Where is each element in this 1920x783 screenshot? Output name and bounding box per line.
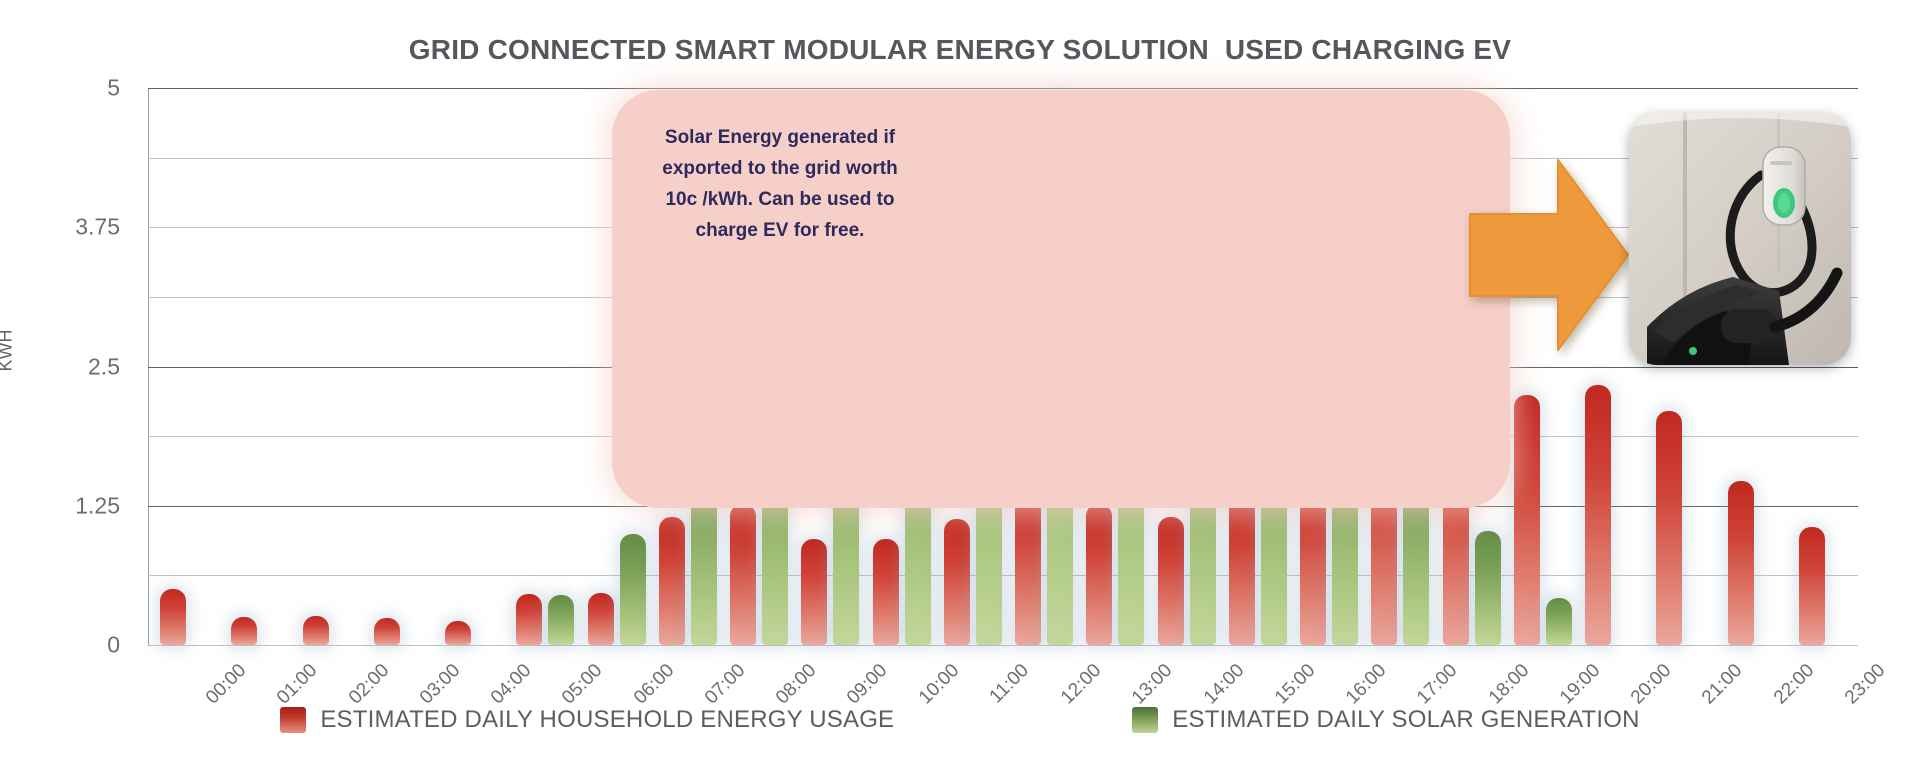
bar-usage[interactable] [445, 621, 471, 646]
y-axis-tick-label: 0 [0, 632, 120, 659]
x-axis-tick-label: 09:00 [843, 660, 892, 709]
x-axis-tick-label: 13:00 [1128, 660, 1177, 709]
bar-usage[interactable] [1229, 496, 1255, 645]
bar-group [439, 88, 510, 645]
x-axis-tick-label: 17:00 [1413, 660, 1462, 709]
x-axis-tick-label: 07:00 [701, 660, 750, 709]
x-axis-tick-label: 16:00 [1342, 660, 1391, 709]
bar-solar[interactable] [1475, 531, 1501, 645]
bar-group [510, 88, 581, 645]
x-axis-tick-label: 08:00 [772, 660, 821, 709]
bar-group [154, 88, 225, 645]
solar-annotation-text: Solar Energy generated if exported to th… [648, 122, 912, 246]
legend-label-solar: ESTIMATED DAILY SOLAR GENERATION [1172, 706, 1639, 734]
bar-usage[interactable] [1728, 481, 1754, 645]
x-axis-tick-label: 04:00 [487, 660, 536, 709]
legend-item-usage[interactable]: ESTIMATED DAILY HOUSEHOLD ENERGY USAGE [280, 706, 894, 734]
bar-usage[interactable] [659, 517, 685, 645]
legend-label-usage: ESTIMATED DAILY HOUSEHOLD ENERGY USAGE [320, 706, 894, 734]
bar-usage[interactable] [730, 504, 756, 645]
x-axis-tick-label: 10:00 [914, 660, 963, 709]
bar-usage[interactable] [801, 539, 827, 645]
bar-usage[interactable] [1086, 504, 1112, 645]
x-axis-tick-label: 12:00 [1057, 660, 1106, 709]
x-axis-tick-label: 15:00 [1271, 660, 1320, 709]
orange-arrow-icon [1462, 152, 1634, 358]
bar-usage[interactable] [303, 616, 329, 645]
x-axis-tick-label: 05:00 [558, 660, 607, 709]
chart-root: GRID CONNECTED SMART MODULAR ENERGY SOLU… [0, 0, 1920, 783]
bar-solar[interactable] [1546, 598, 1572, 645]
legend-swatch-usage-icon [280, 707, 306, 733]
x-axis-tick-label: 18:00 [1484, 660, 1533, 709]
bar-usage[interactable] [588, 593, 614, 645]
bar-usage[interactable] [516, 594, 542, 645]
y-axis-tick-label: 2.5 [0, 353, 120, 380]
x-axis-tick-label: 00:00 [202, 660, 251, 709]
bar-usage[interactable] [1799, 527, 1825, 645]
bar-solar[interactable] [620, 534, 646, 645]
x-axis-tick-label: 14:00 [1199, 660, 1248, 709]
x-axis-tick-label: 23:00 [1841, 660, 1890, 709]
x-axis-tick-label: 19:00 [1556, 660, 1605, 709]
y-axis-tick-label: 3.75 [0, 214, 120, 241]
y-axis: KWH 01.252.53.755 [0, 0, 140, 783]
y-axis-tick-label: 5 [0, 75, 120, 102]
legend-swatch-solar-icon [1132, 707, 1158, 733]
x-axis-tick-label: 06:00 [629, 660, 678, 709]
x-axis-tick-label: 02:00 [344, 660, 393, 709]
bar-usage[interactable] [1656, 411, 1682, 645]
x-axis-tick-label: 20:00 [1627, 660, 1676, 709]
x-axis-tick-label: 03:00 [416, 660, 465, 709]
x-axis-tick-label: 11:00 [985, 660, 1033, 708]
bar-usage[interactable] [374, 618, 400, 645]
bar-usage[interactable] [873, 539, 899, 645]
chart-title: GRID CONNECTED SMART MODULAR ENERGY SOLU… [0, 34, 1920, 66]
bar-usage[interactable] [944, 519, 970, 645]
bar-solar[interactable] [548, 595, 574, 645]
ev-charger-photo [1629, 113, 1851, 365]
bar-group [297, 88, 368, 645]
bar-usage[interactable] [1514, 395, 1540, 645]
bar-usage[interactable] [231, 617, 257, 645]
bar-usage[interactable] [1585, 385, 1611, 645]
bar-usage[interactable] [160, 589, 186, 645]
x-axis-tick-label: 21:00 [1698, 660, 1747, 709]
x-axis-tick-label: 22:00 [1769, 660, 1818, 709]
bar-group [225, 88, 296, 645]
y-axis-tick-label: 1.25 [0, 492, 120, 519]
x-axis-tick-label: 01:00 [273, 660, 322, 709]
bar-group [368, 88, 439, 645]
bar-usage[interactable] [1158, 517, 1184, 645]
chart-legend: ESTIMATED DAILY HOUSEHOLD ENERGY USAGE E… [0, 706, 1920, 734]
gridline [148, 645, 1858, 646]
legend-item-solar[interactable]: ESTIMATED DAILY SOLAR GENERATION [1132, 706, 1639, 734]
